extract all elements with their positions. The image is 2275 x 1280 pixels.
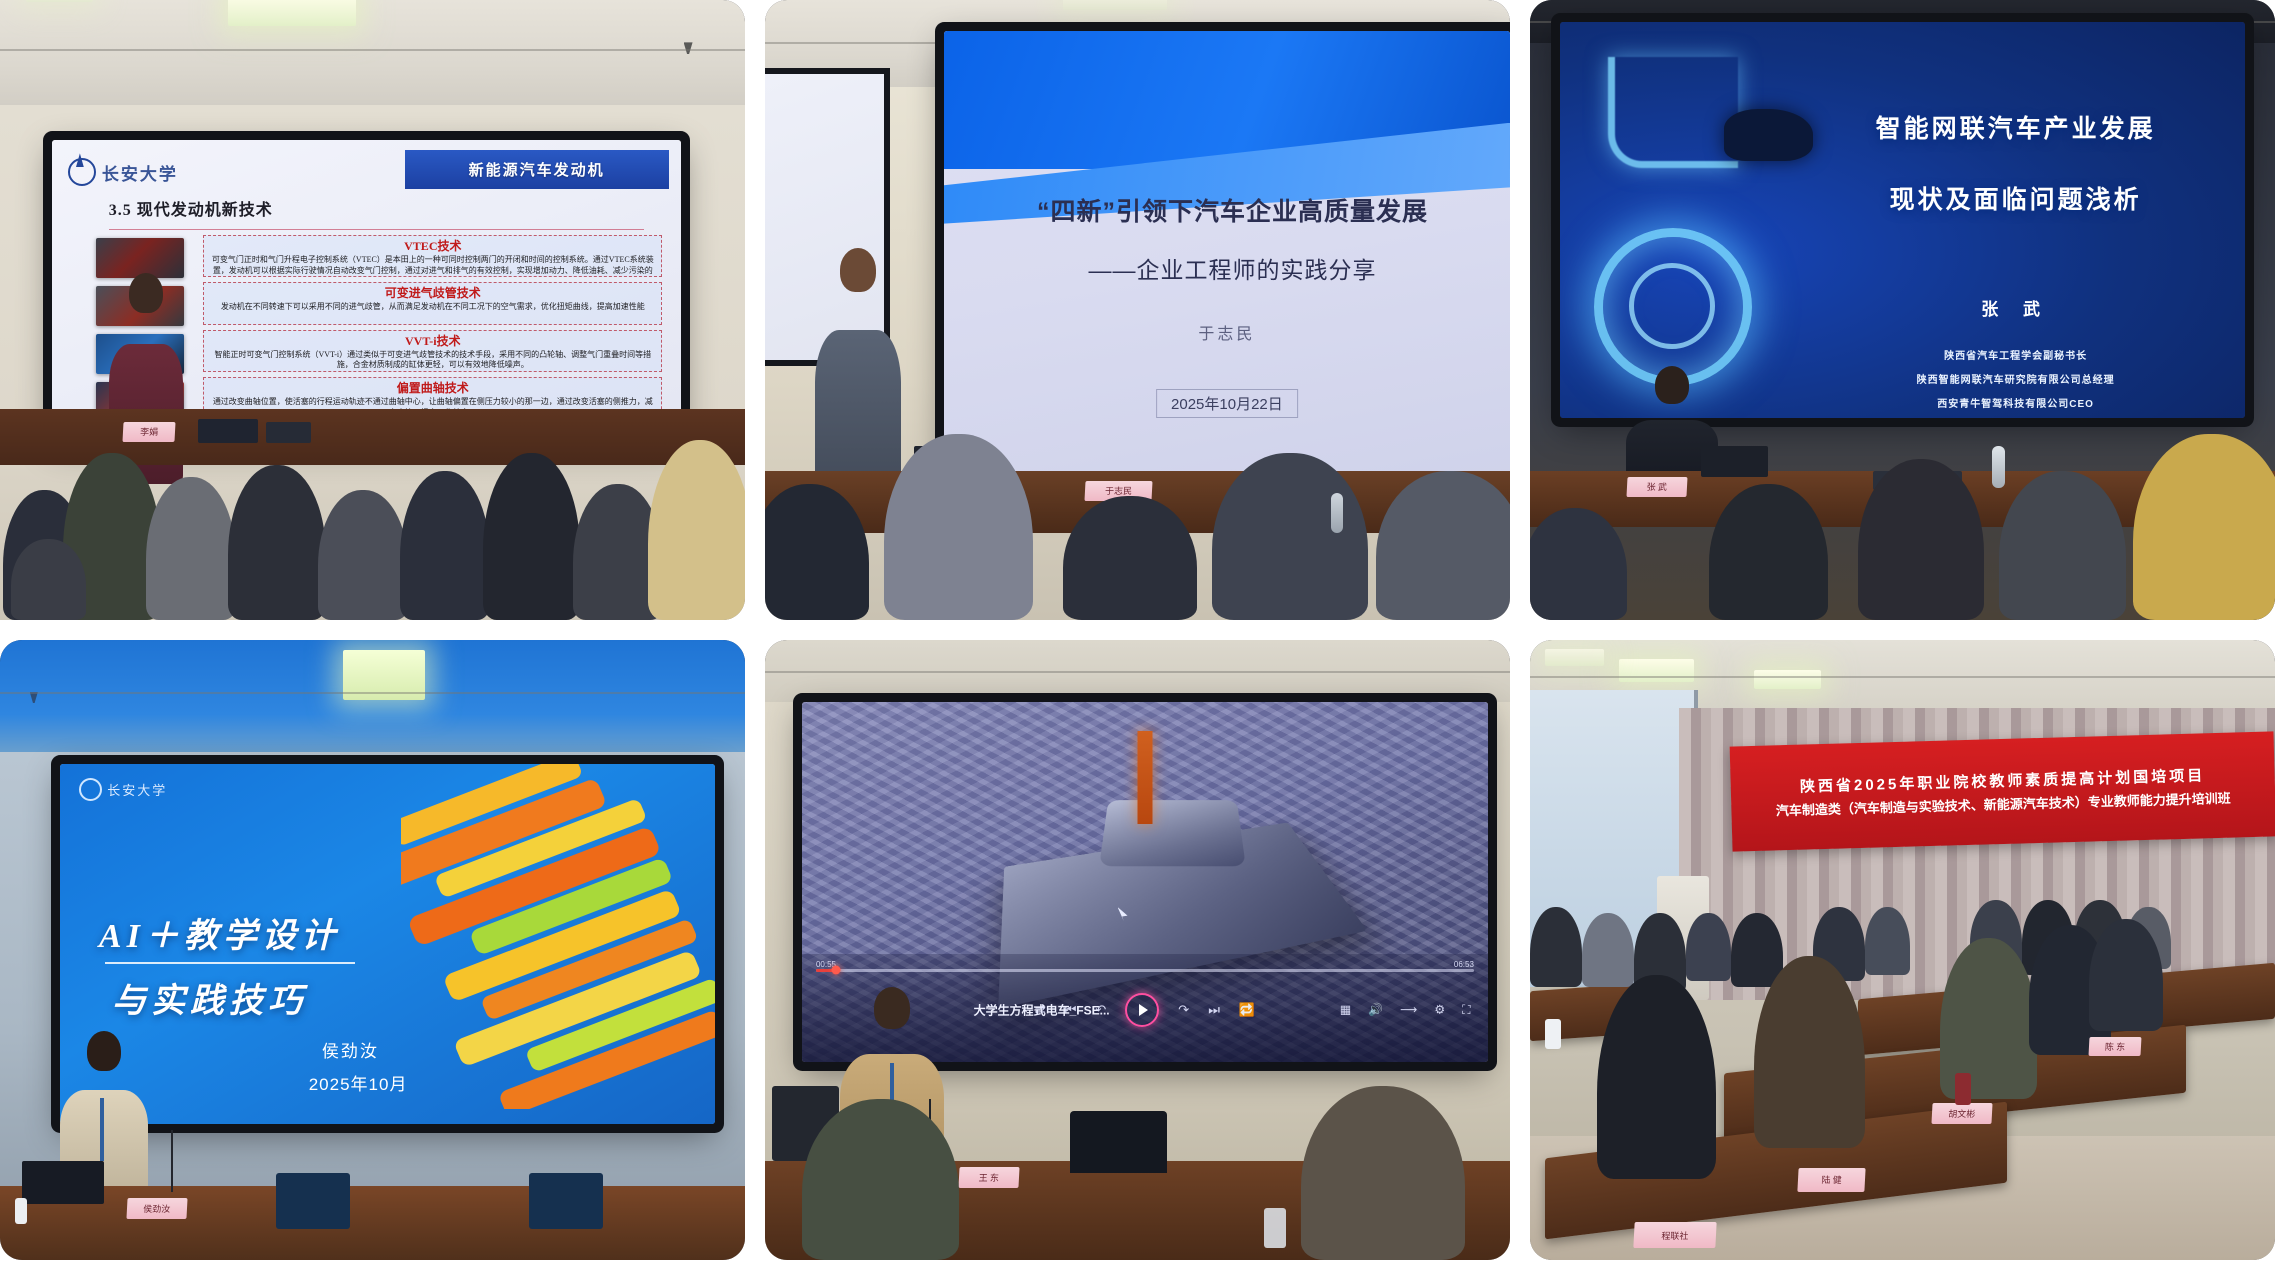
projection-screen: 智能网联汽车产业发展 现状及面临问题浅析 张 武 陕西省汽车工程学会副秘书长 陕…	[1560, 22, 2245, 419]
sprinkler-icon	[684, 42, 693, 54]
lecture-desk	[0, 1186, 745, 1260]
ceiling-light	[1754, 670, 1821, 689]
name-card: 高德玮	[794, 533, 862, 554]
ceiling-light	[228, 0, 355, 26]
slide-header-bar: 新能源汽车发动机	[405, 150, 669, 189]
ceiling-light	[1545, 649, 1605, 666]
laptop	[198, 419, 258, 444]
subtitles-icon[interactable]: ▦	[1340, 1003, 1351, 1017]
lecture-desk	[0, 409, 745, 465]
name-card: 陈 东	[2088, 1037, 2141, 1056]
title-underline	[105, 962, 354, 964]
presenter-head	[87, 1031, 121, 1071]
presenter-head	[1655, 366, 1689, 404]
ceiling-light	[343, 650, 425, 700]
slide-title-line2: 与实践技巧	[112, 973, 307, 1022]
laptop	[266, 422, 311, 444]
slide-block-title: 可变进气歧管技术	[210, 286, 655, 301]
slide-block-body: 发动机在不同转速下可以采用不同的进气歧管，从而满足发动机在不同工况下的空气需求，…	[210, 302, 655, 313]
repeat-icon[interactable]: 🔁	[1239, 1002, 1255, 1018]
video-progress-bar[interactable]	[816, 969, 1474, 972]
ceiling	[0, 640, 745, 764]
video-progress-handle[interactable]	[831, 966, 840, 975]
paint-brush-artwork	[401, 764, 716, 1109]
thermos-cup	[1955, 1073, 1971, 1105]
slide-speaker: 侯劲汝	[322, 1037, 379, 1062]
video-total-time: 06:53	[1454, 960, 1474, 969]
air-conditioner	[1657, 876, 1709, 1000]
shuffle-icon[interactable]: ⇄	[1035, 1002, 1046, 1018]
paper-cup	[15, 1198, 27, 1224]
settings-icon[interactable]: ⚙	[1434, 1003, 1445, 1017]
name-card-label: 王 东	[978, 1171, 999, 1184]
slide-title: “四新”引领下汽车企业高质量发展	[978, 192, 1488, 228]
next-icon[interactable]: ⏭	[1208, 1002, 1220, 1018]
name-card-label: 于志民	[1105, 484, 1133, 497]
name-card-label: 侯劲汝	[143, 1202, 171, 1215]
conference-desk	[765, 1161, 1510, 1260]
projection-screen: 长安大学 AI＋教学设计 与实践技巧 侯劲汝 2025年10月	[60, 764, 716, 1124]
slide-date: 2025年10月22日	[1156, 389, 1298, 418]
name-card-label: 陆 健	[1821, 1174, 1842, 1187]
photo-icv-lecture[interactable]: 智能网联汽车产业发展 现状及面临问题浅析 张 武 陕西省汽车工程学会副秘书长 陕…	[1530, 0, 2275, 620]
laptop-case	[1873, 471, 1962, 490]
name-card: 胡文彬	[1932, 1103, 1993, 1124]
ceiling-light	[1063, 0, 1167, 10]
photo-engine-lecture[interactable]: 长安大学 新能源汽车发动机 3.5 现代发动机新技术 VTEC技术 可变气门正时…	[0, 0, 745, 620]
slide-block: VTEC技术 可变气门正时和气门升程电子控制系统（VTEC）是本田上的一种可同时…	[203, 235, 662, 277]
name-card: 王 东	[958, 1167, 1019, 1188]
slide-content-blocks: VTEC技术 可变气门正时和气门升程电子控制系统（VTEC）是本田上的一种可同时…	[203, 235, 662, 420]
lanyard	[100, 1098, 104, 1161]
presenter-head	[840, 248, 876, 292]
rewind-icon[interactable]: ↶	[1095, 1002, 1106, 1018]
slide-title-line1: 智能网联汽车产业发展	[1807, 109, 2225, 145]
photo-gallery: 长安大学 新能源汽车发动机 3.5 现代发动机新技术 VTEC技术 可变气门正时…	[0, 0, 2275, 1280]
slide-block-title: VTEC技术	[210, 239, 655, 254]
chair	[529, 1173, 604, 1229]
microphone	[171, 1130, 173, 1192]
slide-block-body: 智能正时可变气门控制系统（VVT-i）通过类似于可变进气歧管技术的技术手段，采用…	[210, 350, 655, 372]
slide-block-title: VVT-i技术	[210, 334, 655, 349]
slide-block: VVT-i技术 智能正时可变气门控制系统（VVT-i）通过类似于可变进气歧管技术…	[203, 330, 662, 372]
slide-header-label: 新能源汽车发动机	[469, 159, 605, 180]
name-card: 程联社	[1634, 1222, 1717, 1248]
ceiling-light	[1619, 659, 1694, 682]
divider	[109, 229, 644, 230]
speed-icon[interactable]: ⟶	[1400, 1003, 1417, 1017]
fullscreen-icon[interactable]: ⛶	[1462, 1002, 1470, 1017]
name-card-label: 张 武	[1646, 481, 1667, 494]
microphone	[929, 1099, 931, 1167]
slide-block-body: 可变气门正时和气门升程电子控制系统（VTEC）是本田上的一种可同时控制两门的开闭…	[210, 255, 655, 277]
slide-title-line2: 现状及面临问题浅析	[1807, 180, 2225, 216]
presenter-head	[874, 987, 910, 1029]
cam-boss-feature	[1099, 800, 1246, 866]
university-logo-label: 长安大学	[102, 160, 178, 185]
slide-credential: 西安青牛智驾科技有限公司CEO	[1807, 395, 2225, 410]
ceiling	[0, 0, 745, 118]
photo-sixin-lecture[interactable]: “四新”引领下汽车企业高质量发展 ——企业工程师的实践分享 于志民 2025年1…	[765, 0, 1510, 620]
slide-speaker: 于志民	[944, 320, 1510, 344]
name-card-label: 高德玮	[814, 537, 842, 550]
video-right-controls[interactable]: ▦ 🔊 ⟶ ⚙ ⛶	[1340, 1002, 1471, 1017]
sprinkler-icon	[30, 692, 38, 703]
slide-section-title: 3.5 现代发动机新技术	[109, 196, 273, 220]
slide-speaker: 张 武	[1807, 295, 2225, 320]
name-card: 陆 健	[1798, 1168, 1866, 1192]
car-mirror	[1724, 109, 1813, 161]
slide-title-line1: AI＋教学设计	[99, 908, 340, 957]
crest-icon	[79, 778, 102, 801]
photo-cam-video[interactable]: 00:55 06:53 大学生方程式电车_FSE... ⇄ ⏮ ↶ ↷ ⏭ 🔁	[765, 640, 1510, 1260]
university-logo: 长安大学	[79, 778, 167, 801]
projection-screen: “四新”引领下汽车企业高质量发展 ——企业工程师的实践分享 于志民 2025年1…	[944, 31, 1510, 490]
car-light-streak	[1608, 57, 1738, 167]
slide-credential: 陕西智能网联汽车研究院有限公司总经理	[1807, 371, 2225, 386]
name-card: 侯劲汝	[126, 1198, 187, 1219]
name-card-label: 陈 东	[2104, 1040, 2125, 1053]
photo-ai-teaching[interactable]: 长安大学 AI＋教学设计 与实践技巧 侯劲汝 2025年10月 侯劲汝	[0, 640, 745, 1260]
slide-block: 可变进气歧管技术 发动机在不同转速下可以采用不同的进气歧管，从而满足发动机在不同…	[203, 282, 662, 324]
previous-icon[interactable]: ⏮	[1065, 1002, 1077, 1018]
cam-cutting-tool	[1137, 731, 1152, 824]
play-icon[interactable]	[1125, 993, 1159, 1027]
name-card-label: 程联社	[1661, 1228, 1689, 1241]
name-card: 于志民	[1085, 481, 1153, 501]
slide-date: 2025年10月	[309, 1070, 408, 1095]
water-bottle	[1992, 446, 2005, 488]
slide-block-title: 偏置曲轴技术	[210, 381, 655, 396]
photo-classroom-banner[interactable]: 陕西省2025年职业院校教师素质提高计划国培项目 汽车制造类（汽车制造与实验技术…	[1530, 640, 2275, 1260]
name-card-label: 胡文彬	[1948, 1107, 1976, 1120]
chair	[1070, 1111, 1167, 1173]
forward-icon[interactable]: ↷	[1178, 1002, 1189, 1018]
event-banner: 陕西省2025年职业院校教师素质提高计划国培项目 汽车制造类（汽车制造与实验技术…	[1730, 732, 2275, 853]
volume-icon[interactable]: 🔊	[1368, 1003, 1383, 1017]
laptop	[22, 1161, 104, 1204]
slide-subtitle: ——企业工程师的实践分享	[978, 251, 1488, 285]
car-headlight	[1594, 228, 1752, 386]
university-logo: 长安大学	[68, 148, 257, 196]
name-card-label: 李娟	[140, 425, 159, 438]
presenter-head	[129, 273, 163, 313]
name-card: 张 武	[1626, 477, 1687, 497]
paper-cup	[1545, 1019, 1561, 1049]
equipment-box	[772, 1086, 839, 1160]
slide-credential: 陕西省汽车工程学会副秘书长	[1807, 347, 2225, 362]
name-card: 李娟	[123, 422, 176, 442]
ceiling-light	[26, 0, 93, 2]
chair	[276, 1173, 351, 1229]
lanyard	[890, 1063, 894, 1130]
laptop	[1701, 446, 1768, 477]
laptop	[914, 446, 981, 477]
crest-icon	[68, 158, 96, 186]
university-logo-label: 长安大学	[107, 780, 167, 799]
